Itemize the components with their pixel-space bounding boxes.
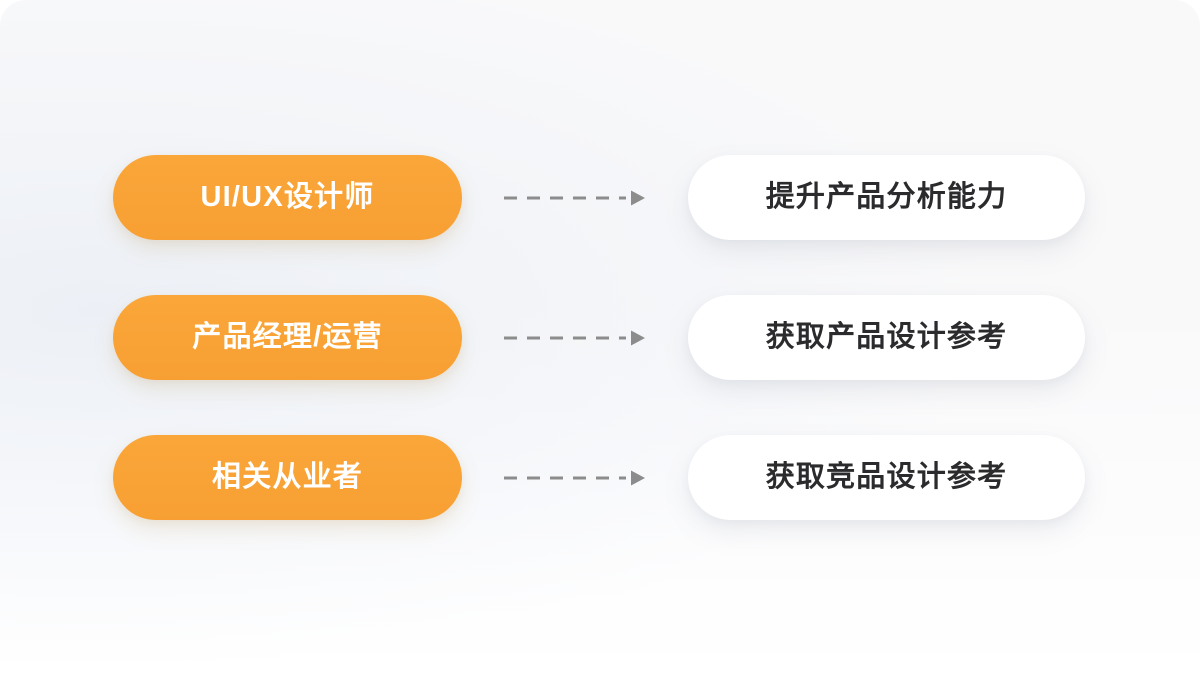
- diagram-canvas: UI/UX设计师 提升产品分析能力 产品经理/运营 获取产品设计参考: [0, 0, 1200, 675]
- target-pill-0[interactable]: 提升产品分析能力: [688, 155, 1085, 240]
- target-pill-label: 获取竞品设计参考: [766, 463, 1008, 492]
- mapping-row: 产品经理/运营 获取产品设计参考: [0, 295, 1200, 380]
- mapping-row: UI/UX设计师 提升产品分析能力: [0, 155, 1200, 240]
- target-pill-2[interactable]: 获取竞品设计参考: [688, 435, 1085, 520]
- source-pill-label: UI/UX设计师: [201, 183, 375, 212]
- source-pill-label: 产品经理/运营: [192, 323, 382, 352]
- dashed-arrow-right-icon: [500, 185, 650, 211]
- source-pill-0[interactable]: UI/UX设计师: [113, 155, 462, 240]
- target-pill-label: 提升产品分析能力: [766, 183, 1008, 212]
- source-pill-2[interactable]: 相关从业者: [113, 435, 462, 520]
- source-pill-1[interactable]: 产品经理/运营: [113, 295, 462, 380]
- target-pill-label: 获取产品设计参考: [766, 323, 1008, 352]
- dashed-arrow-right-icon: [500, 465, 650, 491]
- source-pill-label: 相关从业者: [212, 463, 363, 492]
- target-pill-1[interactable]: 获取产品设计参考: [688, 295, 1085, 380]
- dashed-arrow-right-icon: [500, 325, 650, 351]
- mapping-row: 相关从业者 获取竞品设计参考: [0, 435, 1200, 520]
